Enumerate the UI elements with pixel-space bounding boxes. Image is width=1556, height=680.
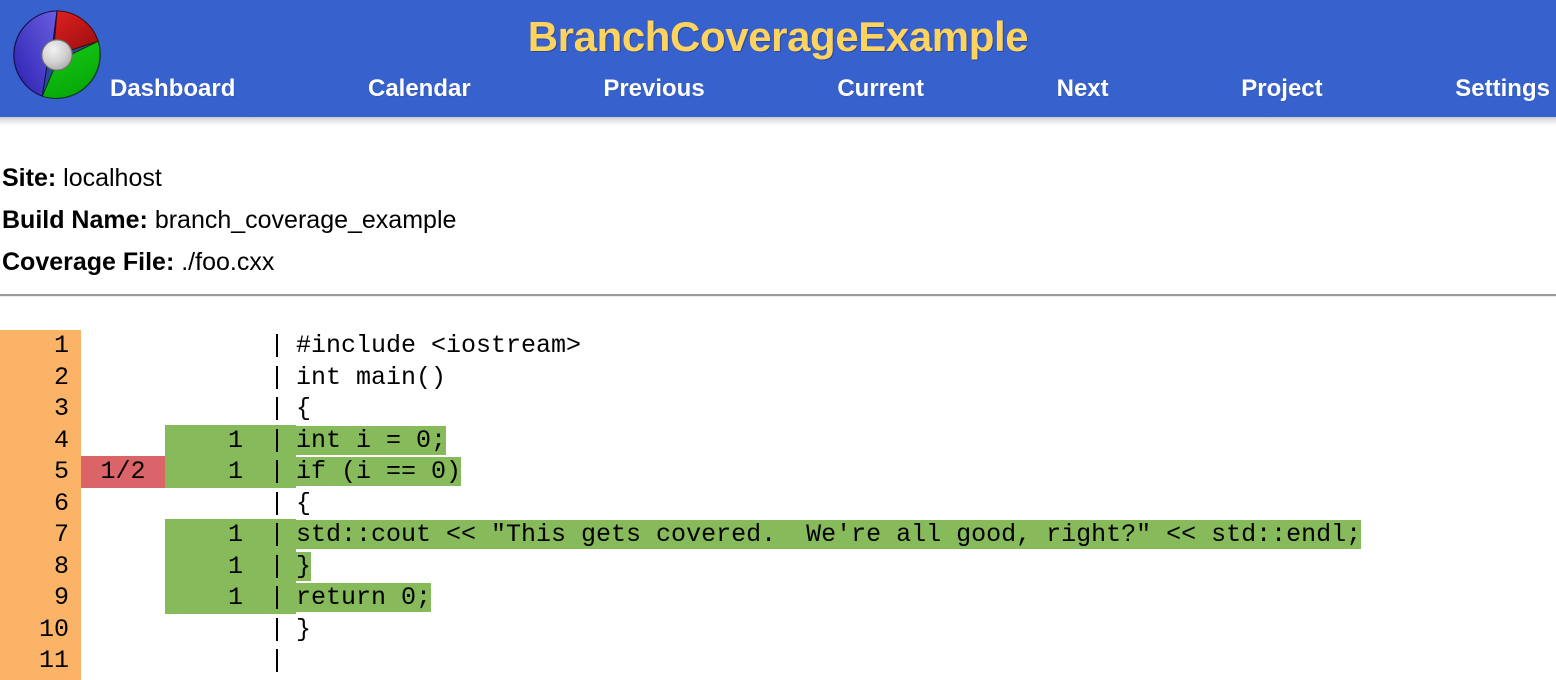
coverage-line-row: 91|return 0; bbox=[0, 582, 1556, 614]
page-title: BranchCoverageExample bbox=[0, 13, 1556, 61]
metadata-row-coverage-file: Coverage File: ./foo.cxx bbox=[2, 241, 1002, 283]
build-name-value: branch_coverage_example bbox=[155, 206, 457, 234]
nav-item-settings[interactable]: Settings bbox=[1455, 75, 1550, 103]
line-number: 10 bbox=[0, 614, 69, 646]
execution-count-cell: 1 bbox=[165, 519, 258, 551]
column-separator: | bbox=[258, 614, 296, 646]
coverage-line-row: 81|} bbox=[0, 551, 1556, 583]
line-number: 8 bbox=[0, 551, 69, 583]
covered-code-highlight: } bbox=[296, 552, 311, 581]
branch-coverage-cell: 1/2 bbox=[81, 456, 165, 488]
execution-count-cell: 1 bbox=[165, 425, 258, 457]
source-code-text: int i = 0; bbox=[296, 425, 446, 457]
nav-item-dashboard[interactable]: Dashboard bbox=[110, 75, 235, 103]
nav-item-current[interactable]: Current bbox=[837, 75, 924, 103]
source-code-text: } bbox=[296, 551, 311, 583]
column-separator: | bbox=[258, 456, 296, 488]
line-number: 1 bbox=[0, 330, 69, 362]
coverage-line-row: 41|int i = 0; bbox=[0, 425, 1556, 457]
execution-count-cell: 1 bbox=[165, 456, 258, 488]
column-separator: | bbox=[258, 551, 296, 583]
nav-item-next[interactable]: Next bbox=[1057, 75, 1109, 103]
source-code-text: #include <iostream> bbox=[296, 330, 581, 362]
line-number: 7 bbox=[0, 519, 69, 551]
coverage-line-row: 71|std::cout << "This gets covered. We'r… bbox=[0, 519, 1556, 551]
line-number: 2 bbox=[0, 362, 69, 394]
site-value: localhost bbox=[63, 164, 162, 192]
execution-count-cell: 1 bbox=[165, 551, 258, 583]
coverage-source-listing: 1|#include <iostream>2|int main()3|{41|i… bbox=[0, 330, 1556, 680]
source-code-text: int main() bbox=[296, 362, 446, 394]
column-separator: | bbox=[258, 645, 296, 677]
site-header: BranchCoverageExample Dashboard Calendar… bbox=[0, 0, 1556, 117]
source-code-text: { bbox=[296, 393, 311, 425]
coverage-file-label: Coverage File: bbox=[2, 248, 174, 276]
covered-code-highlight: if (i == 0) bbox=[296, 457, 461, 486]
source-code-text: if (i == 0) bbox=[296, 456, 461, 488]
nav-item-calendar[interactable]: Calendar bbox=[368, 75, 471, 103]
coverage-line-row: 3|{ bbox=[0, 393, 1556, 425]
coverage-line-row: 6|{ bbox=[0, 488, 1556, 520]
line-number: 6 bbox=[0, 488, 69, 520]
nav-item-previous[interactable]: Previous bbox=[603, 75, 704, 103]
column-separator: | bbox=[258, 330, 296, 362]
line-number: 4 bbox=[0, 425, 69, 457]
section-divider bbox=[0, 294, 1556, 297]
build-metadata: Site: localhost Build Name: branch_cover… bbox=[2, 157, 1002, 283]
execution-count-cell: 1 bbox=[165, 582, 258, 614]
coverage-line-row: 2|int main() bbox=[0, 362, 1556, 394]
source-code-text: } bbox=[296, 614, 311, 646]
metadata-row-build-name: Build Name: branch_coverage_example bbox=[2, 199, 1002, 241]
line-number: 3 bbox=[0, 393, 69, 425]
source-code-text: std::cout << "This gets covered. We're a… bbox=[296, 519, 1361, 551]
line-number: 11 bbox=[0, 645, 69, 677]
metadata-row-site: Site: localhost bbox=[2, 157, 1002, 199]
coverage-line-row: 10|} bbox=[0, 614, 1556, 646]
line-number: 5 bbox=[0, 456, 69, 488]
column-separator: | bbox=[258, 393, 296, 425]
column-separator: | bbox=[258, 488, 296, 520]
covered-code-highlight: int i = 0; bbox=[296, 426, 446, 455]
coverage-rows: 1|#include <iostream>2|int main()3|{41|i… bbox=[0, 330, 1556, 677]
header-shadow bbox=[0, 117, 1556, 126]
site-label: Site: bbox=[2, 164, 56, 192]
covered-code-highlight: return 0; bbox=[296, 583, 431, 612]
covered-code-highlight: std::cout << "This gets covered. We're a… bbox=[296, 520, 1361, 549]
column-separator: | bbox=[258, 519, 296, 551]
line-number: 9 bbox=[0, 582, 69, 614]
source-code-text: { bbox=[296, 488, 311, 520]
coverage-line-row: 1|#include <iostream> bbox=[0, 330, 1556, 362]
column-separator: | bbox=[258, 582, 296, 614]
coverage-line-row: 51/21|if (i == 0) bbox=[0, 456, 1556, 488]
column-separator: | bbox=[258, 362, 296, 394]
source-code-text: return 0; bbox=[296, 582, 431, 614]
coverage-file-value: ./foo.cxx bbox=[181, 248, 274, 276]
nav-item-project[interactable]: Project bbox=[1241, 75, 1322, 103]
build-name-label: Build Name: bbox=[2, 206, 148, 234]
column-separator: | bbox=[258, 425, 296, 457]
coverage-line-row: 11| bbox=[0, 645, 1556, 677]
main-navigation: Dashboard Calendar Previous Current Next… bbox=[110, 75, 1556, 115]
